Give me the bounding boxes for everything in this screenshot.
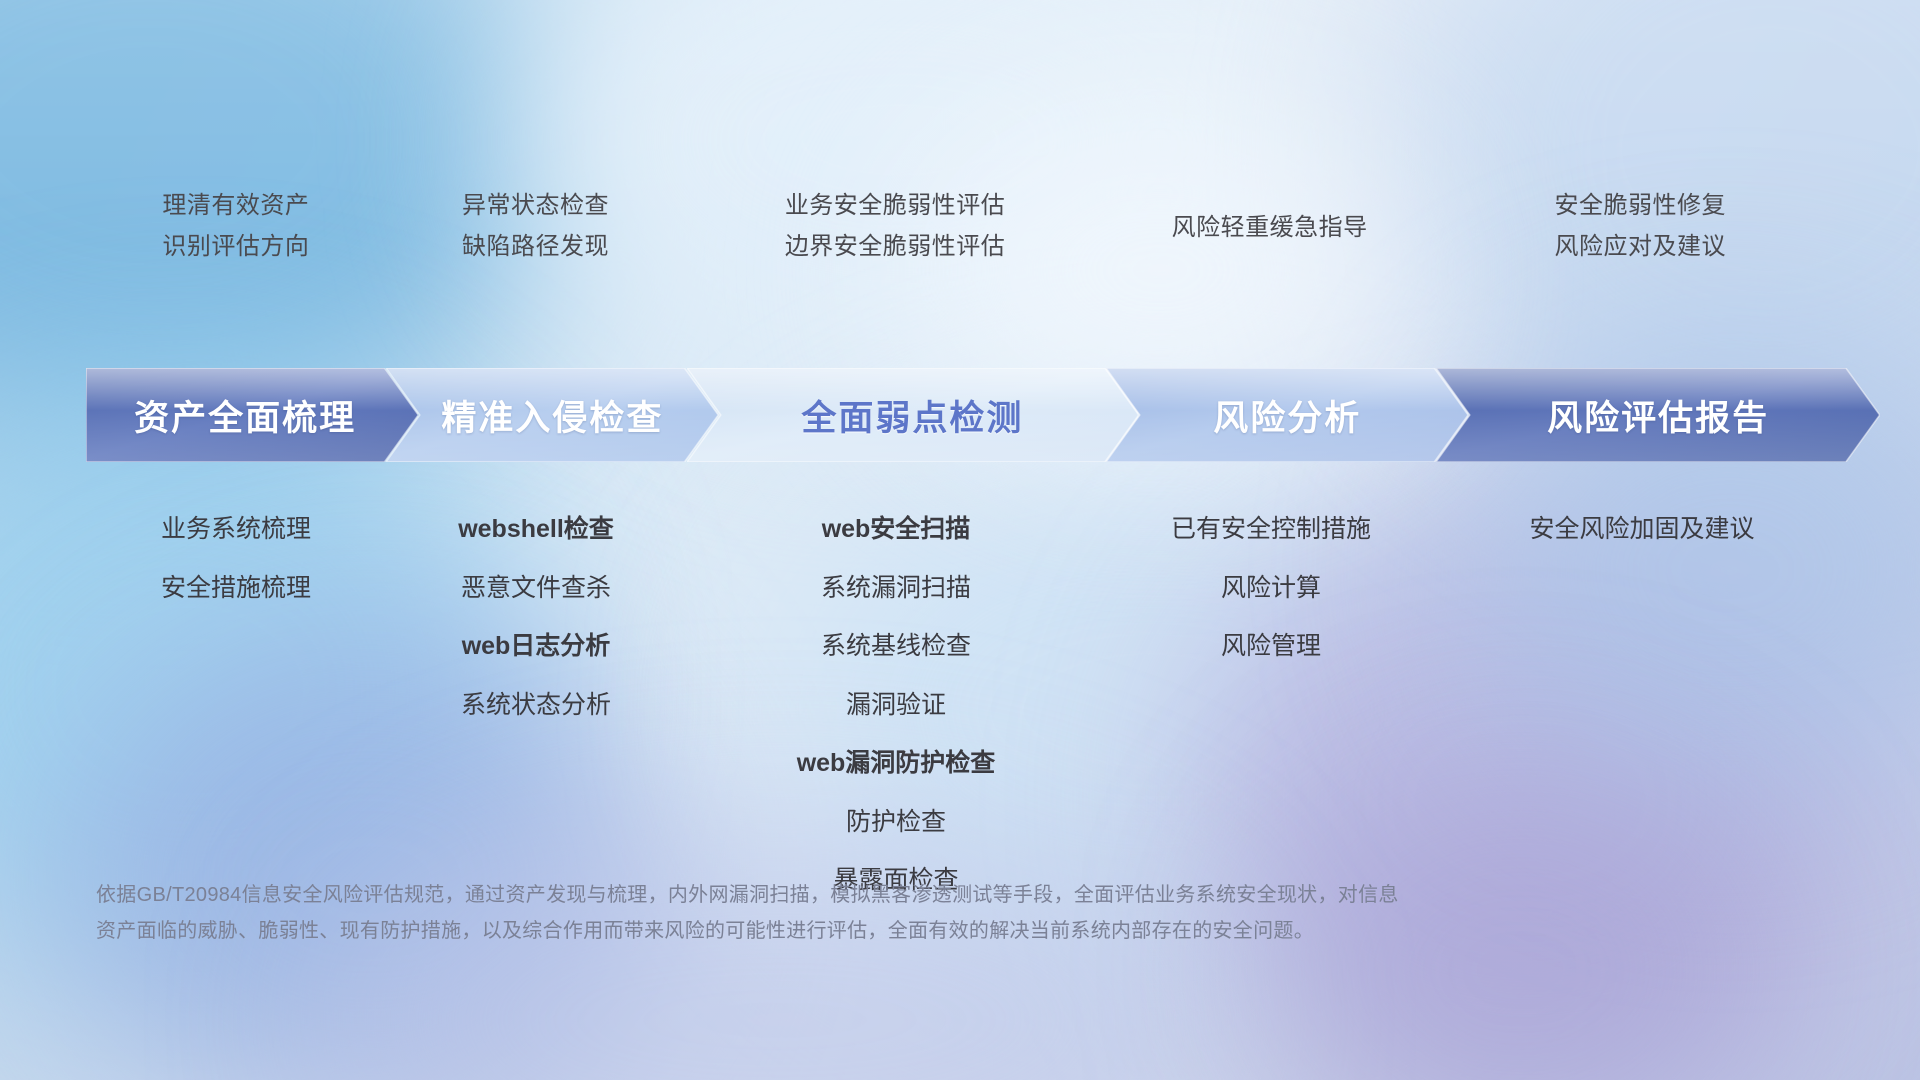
stage-output-group: 异常状态检查缺陷路径发现 xyxy=(386,185,686,295)
process-stage-2[interactable]: 精准入侵检查 xyxy=(386,368,718,462)
stage-activity-item: 已有安全控制措施 xyxy=(1171,500,1371,559)
stage-activity-item: web漏洞防护检查 xyxy=(797,734,996,793)
stage-output-line: 异常状态检查 xyxy=(462,185,609,226)
footer-description: 依据GB/T20984信息安全风险评估规范，通过资产发现与梳理，内外网漏洞扫描，… xyxy=(96,878,1656,949)
stage-activity-group: web安全扫描系统漏洞扫描系统基线检查漏洞验证web漏洞防护检查防护检查暴露面检… xyxy=(686,500,1106,910)
process-stage-5[interactable]: 风险评估报告 xyxy=(1436,368,1880,462)
stage-activity-group: webshell检查恶意文件查杀web日志分析系统状态分析 xyxy=(386,500,686,734)
process-stage-label: 资产全面梳理 xyxy=(134,390,356,441)
process-stage-label: 风险评估报告 xyxy=(1547,390,1769,441)
stage-activity-item: 漏洞验证 xyxy=(846,676,946,735)
stage-activity-item: 系统漏洞扫描 xyxy=(821,559,971,618)
stage-activity-item: 业务系统梳理 xyxy=(161,500,311,559)
stage-outputs-row: 理清有效资产识别评估方向异常状态检查缺陷路径发现业务安全脆弱性评估边界安全脆弱性… xyxy=(86,185,1846,295)
stage-activity-item: web日志分析 xyxy=(462,617,611,676)
stage-activity-group: 安全风险加固及建议 xyxy=(1436,500,1848,559)
stage-activity-item: 安全措施梳理 xyxy=(161,559,311,618)
process-stage-label: 全面弱点检测 xyxy=(801,390,1023,441)
stage-output-line: 理清有效资产 xyxy=(162,185,309,226)
footer-line-2: 资产面临的威胁、脆弱性、现有防护措施，以及综合作用而带来风险的可能性进行评估，全… xyxy=(96,914,1656,950)
stage-activity-group: 已有安全控制措施风险计算风险管理 xyxy=(1106,500,1436,676)
stage-output-line: 缺陷路径发现 xyxy=(462,226,609,267)
stage-activity-item: webshell检查 xyxy=(458,500,614,559)
stage-activity-item: 恶意文件查杀 xyxy=(461,559,611,618)
stage-output-group: 业务安全脆弱性评估边界安全脆弱性评估 xyxy=(685,185,1105,295)
process-stage-label: 精准入侵检查 xyxy=(441,390,663,441)
stage-activity-item: 风险管理 xyxy=(1221,617,1321,676)
stage-output-group: 风险轻重缓急指导 xyxy=(1105,185,1435,295)
stage-output-line: 风险轻重缓急指导 xyxy=(1172,207,1368,248)
process-stage-1[interactable]: 资产全面梳理 xyxy=(86,368,418,462)
stage-output-group: 理清有效资产识别评估方向 xyxy=(86,185,386,295)
stage-activity-item: 安全风险加固及建议 xyxy=(1529,500,1754,559)
stage-activity-group: 业务系统梳理安全措施梳理 xyxy=(86,500,386,617)
stage-activity-item: 风险计算 xyxy=(1221,559,1321,618)
process-stage-3[interactable]: 全面弱点检测 xyxy=(687,368,1139,462)
process-stage-label: 风险分析 xyxy=(1213,390,1361,441)
stage-activities-row: 业务系统梳理安全措施梳理webshell检查恶意文件查杀web日志分析系统状态分… xyxy=(86,500,1848,910)
stage-output-line: 识别评估方向 xyxy=(162,226,309,267)
stage-output-group: 安全脆弱性修复风险应对及建议 xyxy=(1434,185,1846,295)
stage-output-line: 边界安全脆弱性评估 xyxy=(785,226,1006,267)
stage-activity-item: 系统基线检查 xyxy=(821,617,971,676)
stage-activity-item: web安全扫描 xyxy=(822,500,971,559)
stage-activity-item: 系统状态分析 xyxy=(461,676,611,735)
process-stage-4[interactable]: 风险分析 xyxy=(1106,368,1468,462)
stage-activity-item: 防护检查 xyxy=(846,793,946,852)
stage-output-line: 安全脆弱性修复 xyxy=(1554,185,1726,226)
stage-output-line: 业务安全脆弱性评估 xyxy=(785,185,1006,226)
stage-output-line: 风险应对及建议 xyxy=(1554,226,1726,267)
risk-assessment-process-diagram: 理清有效资产识别评估方向异常状态检查缺陷路径发现业务安全脆弱性评估边界安全脆弱性… xyxy=(0,0,1920,1080)
process-chevron-band: 资产全面梳理精准入侵检查全面弱点检测风险分析风险评估报告 xyxy=(86,368,1848,462)
footer-line-1: 依据GB/T20984信息安全风险评估规范，通过资产发现与梳理，内外网漏洞扫描，… xyxy=(96,878,1656,914)
